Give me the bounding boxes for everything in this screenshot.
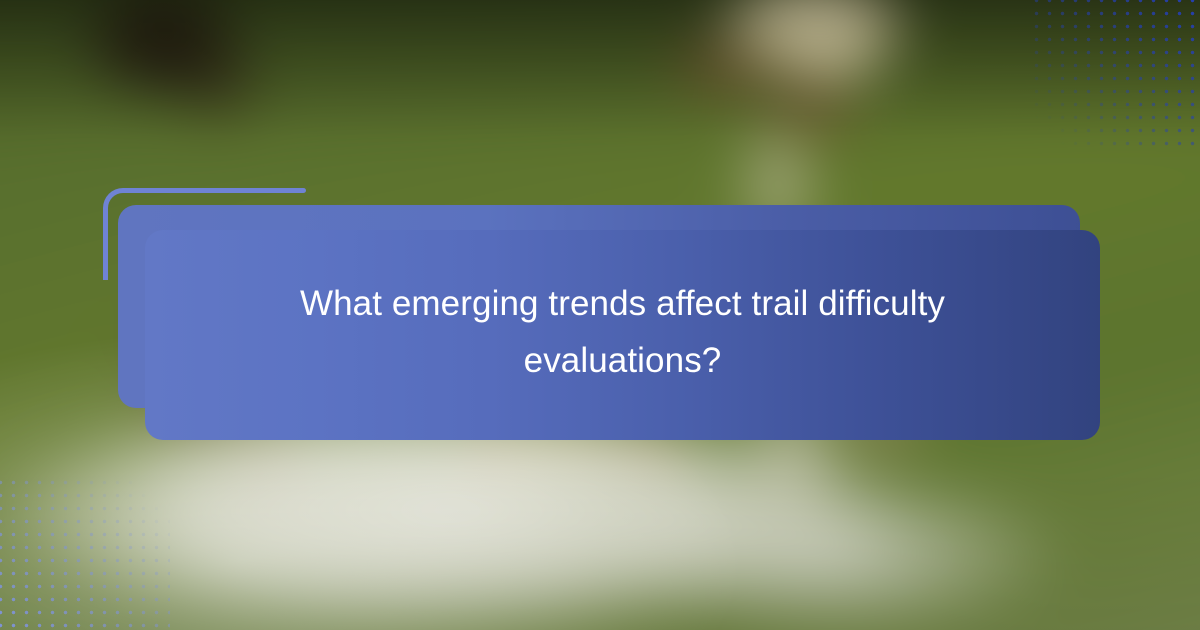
question-text: What emerging trends affect trail diffic… (243, 276, 1003, 393)
question-card-stack: What emerging trends affect trail diffic… (100, 186, 1102, 442)
social-card-canvas: What emerging trends affect trail diffic… (0, 0, 1200, 630)
question-card[interactable]: What emerging trends affect trail diffic… (145, 230, 1100, 440)
